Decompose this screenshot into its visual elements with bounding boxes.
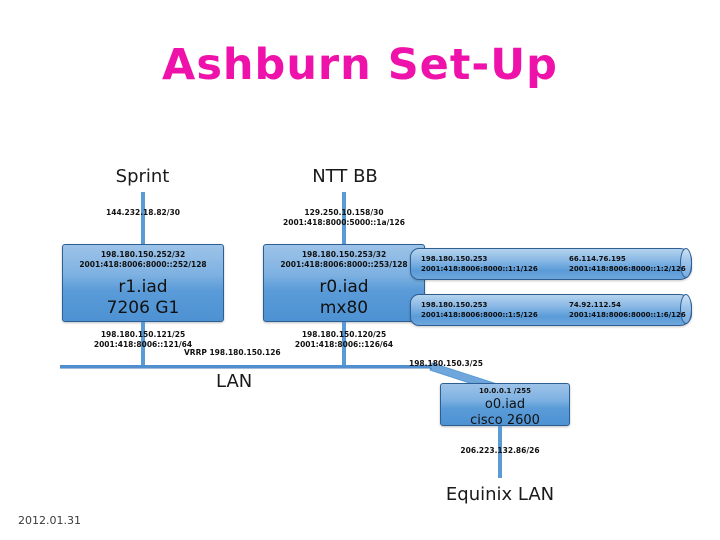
- router-model-r1: 7206 G1: [63, 298, 223, 319]
- edge-router-model: cisco 2600: [441, 413, 569, 429]
- router-loopback-v6-r1: 2001:418:8006:8000::252/128: [63, 260, 223, 270]
- uplink-line-sprint: [141, 192, 145, 244]
- edge-router-hostname: o0.iad: [441, 397, 569, 413]
- uplink-addr-ntt-v6: 2001:418:8000:5000::1a/126: [264, 218, 424, 228]
- peer1-local-v4: 198.180.150.253: [421, 255, 487, 265]
- edge-router-addr: 10.0.0.1 /255: [441, 387, 569, 396]
- router-hostname-r0: r0.iad: [264, 277, 424, 298]
- lan-downlink-addr: 198.180.150.3/25: [409, 359, 483, 369]
- router-box-o0-iad[interactable]: 10.0.0.1 /255 o0.iad cisco 2600: [440, 383, 570, 426]
- uplink-addr-sprint: 144.232.18.82/30: [63, 208, 223, 218]
- peer2-local-v4: 198.180.150.253: [421, 301, 487, 311]
- peer-link-cylinder-1[interactable]: 198.180.150.253 2001:418:8006:8000::1:1/…: [410, 248, 692, 280]
- lan-addr-v4-r1: 198.180.150.121/25: [63, 330, 223, 340]
- lan-addr-v4-r0: 198.180.150.120/25: [264, 330, 424, 340]
- peer-link-cylinder-2[interactable]: 198.180.150.253 2001:418:8006:8000::1:5/…: [410, 294, 692, 326]
- peer2-remote-v6: 2001:418:8006:8000::1:6/126: [569, 311, 686, 321]
- equinix-lan-label: Equinix LAN: [410, 484, 590, 505]
- router-loopback-v4-r1: 198.180.150.252/32: [63, 250, 223, 260]
- slide-canvas: Ashburn Set-Up Sprint NTT BB 144.232.18.…: [0, 0, 720, 540]
- lan-label: LAN: [216, 371, 252, 392]
- lan-bus-shadow: [60, 368, 432, 369]
- provider-label-sprint: Sprint: [60, 166, 225, 187]
- peer2-remote-v4: 74.92.112.54: [569, 301, 621, 311]
- router-loopback-v4-r0: 198.180.150.253/32: [264, 250, 424, 260]
- page-title: Ashburn Set-Up: [0, 40, 720, 90]
- peer2-local-v6: 2001:418:8006:8000::1:5/126: [421, 311, 538, 321]
- equinix-uplink-addr: 206.223.132.86/26: [420, 446, 580, 456]
- provider-label-ntt-bb: NTT BB: [255, 166, 435, 187]
- uplink-addr-ntt-v4: 129.250.10.158/30: [264, 208, 424, 218]
- date-stamp: 2012.01.31: [18, 514, 81, 527]
- router-box-r1-iad[interactable]: 198.180.150.252/32 2001:418:8006:8000::2…: [62, 244, 224, 322]
- router-box-r0-iad[interactable]: 198.180.150.253/32 2001:418:8006:8000::2…: [263, 244, 425, 322]
- lan-bus-line: [60, 365, 432, 368]
- peer1-local-v6: 2001:418:8006:8000::1:1/126: [421, 265, 538, 275]
- router-hostname-r1: r1.iad: [63, 277, 223, 298]
- vrrp-label: VRRP 198.180.150.126: [184, 348, 281, 358]
- router-model-r0: mx80: [264, 298, 424, 319]
- lan-addr-v6-r0: 2001:418:8006::126/64: [264, 340, 424, 350]
- peer1-remote-v6: 2001:418:8006:8000::1:2/126: [569, 265, 686, 275]
- peer1-remote-v4: 66.114.76.195: [569, 255, 626, 265]
- router-loopback-v6-r0: 2001:418:8006:8000::253/128: [264, 260, 424, 270]
